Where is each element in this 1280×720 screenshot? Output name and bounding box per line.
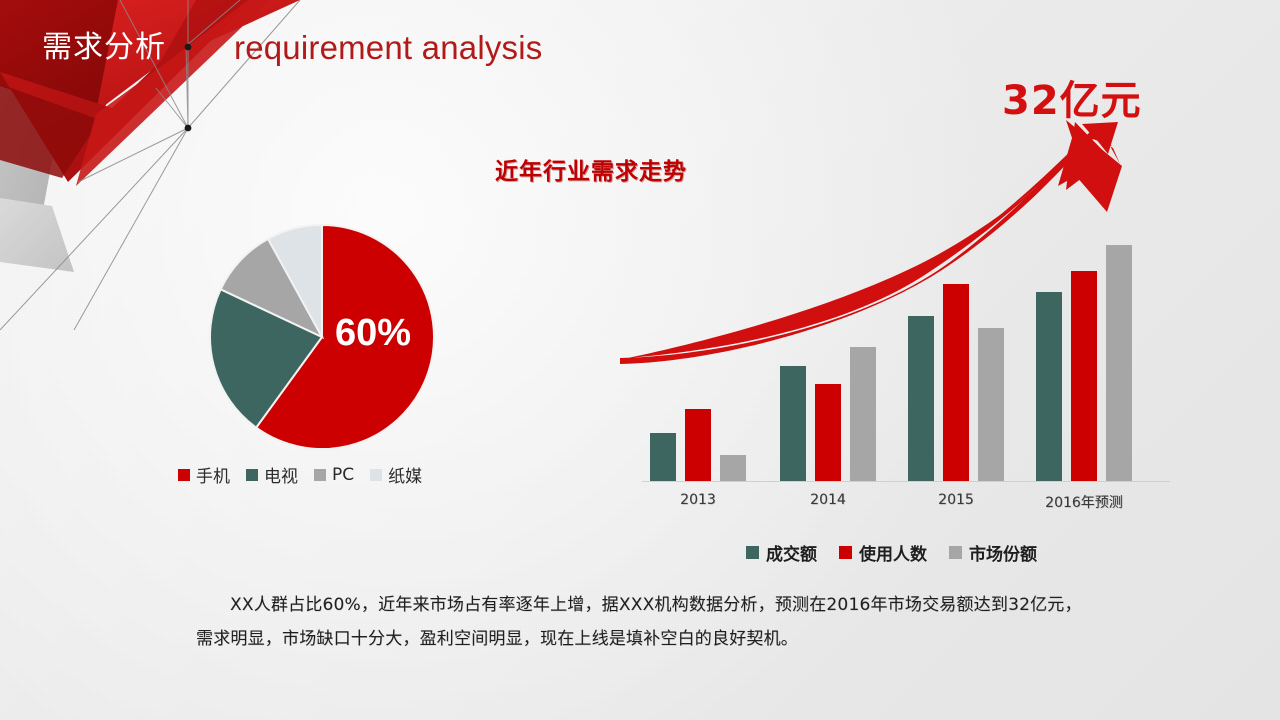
chart-heading: 近年行业需求走势 (495, 152, 687, 186)
bar-2013-成交额[interactable] (650, 433, 676, 482)
pie-legend-label: PC (332, 465, 354, 485)
pie-legend-label: 纸媒 (388, 462, 422, 487)
pie-legend-label: 电视 (264, 462, 298, 487)
node-dot (185, 125, 192, 132)
bar-chart-legend: 成交额使用人数市场份额 (746, 540, 1037, 565)
bar-2015-使用人数[interactable] (943, 284, 969, 482)
pie-chart-legend: 手机电视PC纸媒 (178, 462, 422, 487)
bar-chart-baseline (642, 481, 1170, 482)
pie-legend-item-PC[interactable]: PC (314, 465, 354, 485)
pie-legend-item-手机[interactable]: 手机 (178, 462, 230, 487)
pie-legend-item-电视[interactable]: 电视 (246, 462, 298, 487)
bar-2015-成交额[interactable] (908, 316, 934, 482)
bar-legend-item-成交额[interactable]: 成交额 (746, 540, 817, 565)
bar-2016年预测-成交额[interactable] (1036, 292, 1062, 482)
bar-2014-成交额[interactable] (780, 366, 806, 482)
square-swatch-icon (949, 546, 962, 559)
bar-2014-使用人数[interactable] (815, 384, 841, 482)
bar-2015-市场份额[interactable] (978, 328, 1004, 482)
pie-legend-item-纸媒[interactable]: 纸媒 (370, 462, 422, 487)
square-swatch-icon (370, 469, 382, 481)
pie-chart-svg (190, 222, 450, 452)
bar-2016年预测-市场份额[interactable] (1106, 245, 1132, 482)
bar-legend-label: 使用人数 (859, 540, 927, 565)
bar-legend-item-使用人数[interactable]: 使用人数 (839, 540, 927, 565)
node-dot (185, 44, 192, 51)
bar-chart: 2013201420152016年预测 (620, 120, 1180, 540)
bar-2013-市场份额[interactable] (720, 455, 746, 482)
square-swatch-icon (839, 546, 852, 559)
bar-group-label-2015: 2015 (892, 492, 1020, 508)
bar-group-label-2014: 2014 (764, 492, 892, 508)
square-swatch-icon (178, 469, 190, 481)
bar-group-label-2016年预测: 2016年预测 (1020, 492, 1148, 512)
summary-paragraph: XX人群占比60%，近年来市场占有率逐年上增，据XXX机构数据分析，预测在201… (196, 588, 1096, 656)
square-swatch-icon (746, 546, 759, 559)
pie-chart: 60% (190, 222, 450, 452)
bar-2013-使用人数[interactable] (685, 409, 711, 482)
square-swatch-icon (246, 469, 258, 481)
slide-canvas: 需求分析 requirement analysis 近年行业需求走势 32亿元 … (0, 0, 1280, 720)
square-swatch-icon (314, 469, 326, 481)
pie-legend-label: 手机 (196, 462, 230, 487)
page-title-en: requirement analysis (234, 26, 542, 70)
bar-legend-item-市场份额[interactable]: 市场份额 (949, 540, 1037, 565)
bar-legend-label: 成交额 (766, 540, 817, 565)
page-title-cn: 需求分析 (42, 28, 166, 68)
bar-group-label-2013: 2013 (634, 492, 762, 508)
growth-callout-label: 32亿元 (1002, 68, 1142, 126)
bar-2014-市场份额[interactable] (850, 347, 876, 482)
bar-legend-label: 市场份额 (969, 540, 1037, 565)
bar-chart-bars (620, 120, 1180, 482)
bar-2016年预测-使用人数[interactable] (1071, 271, 1097, 482)
